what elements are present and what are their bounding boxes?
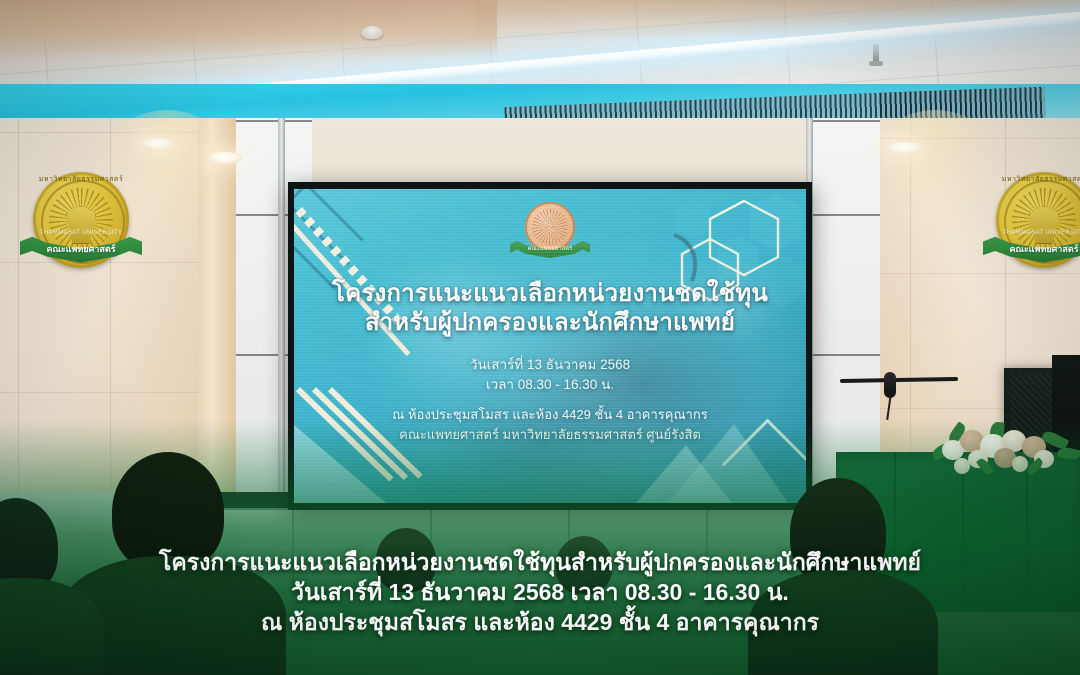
ceiling-warm-glow-left [0,0,497,60]
caption-block: โครงการแนะแนวเลือกหน่วยงานชดใช้ทุนสำหรับ… [0,548,1080,638]
downlight-icon-right [888,142,922,154]
downlight-icon-left2 [208,152,242,164]
downlight-icon-left [140,138,174,150]
caption-line-3: ณ ห้องประชุมสโมสร และห้อง 4429 ชั้น 4 อา… [0,608,1080,638]
emblem-top-arc-text: มหาวิทยาลัยธรรมศาสตร์ [22,174,140,185]
emblem-banner-text: คณะแพทยศาสตร์ [985,242,1080,256]
caption-line-1: โครงการแนะแนวเลือกหน่วยงานชดใช้ทุนสำหรับ… [0,548,1080,578]
emblem-banner-text: คณะแพทยศาสตร์ [22,242,140,256]
caption-line-2: วันเสาร์ที่ 13 ธันวาคม 2568 เวลา 08.30 -… [0,578,1080,608]
emblem-left: มหาวิทยาลัยธรรมศาสตร์ THAMMASAT UNIVERSI… [22,168,140,286]
smoke-detector-icon [361,26,383,39]
slide: คณะแพทยศาสตร์ โครงการแนะแนวเลือกหน่วยงาน… [294,189,806,503]
screen-scanlines [294,189,806,503]
emblem-top-arc-text: มหาวิทยาลัยธรรมศาสตร์ [985,174,1080,185]
emblem-ring-text: THAMMASAT UNIVERSITY [22,230,140,236]
emblem-right: มหาวิทยาลัยธรรมศาสตร์ THAMMASAT UNIVERSI… [985,168,1080,286]
flower-arrangement [930,418,1080,480]
sprinkler-head-icon [873,44,879,64]
presentation-screen: คณะแพทยศาสตร์ โครงการแนะแนวเลือกหน่วยงาน… [288,182,812,510]
emblem-ring-text: THAMMASAT UNIVERSITY [985,230,1080,236]
conference-room-photo: มหาวิทยาลัยธรรมศาสตร์ THAMMASAT UNIVERSI… [0,0,1080,675]
